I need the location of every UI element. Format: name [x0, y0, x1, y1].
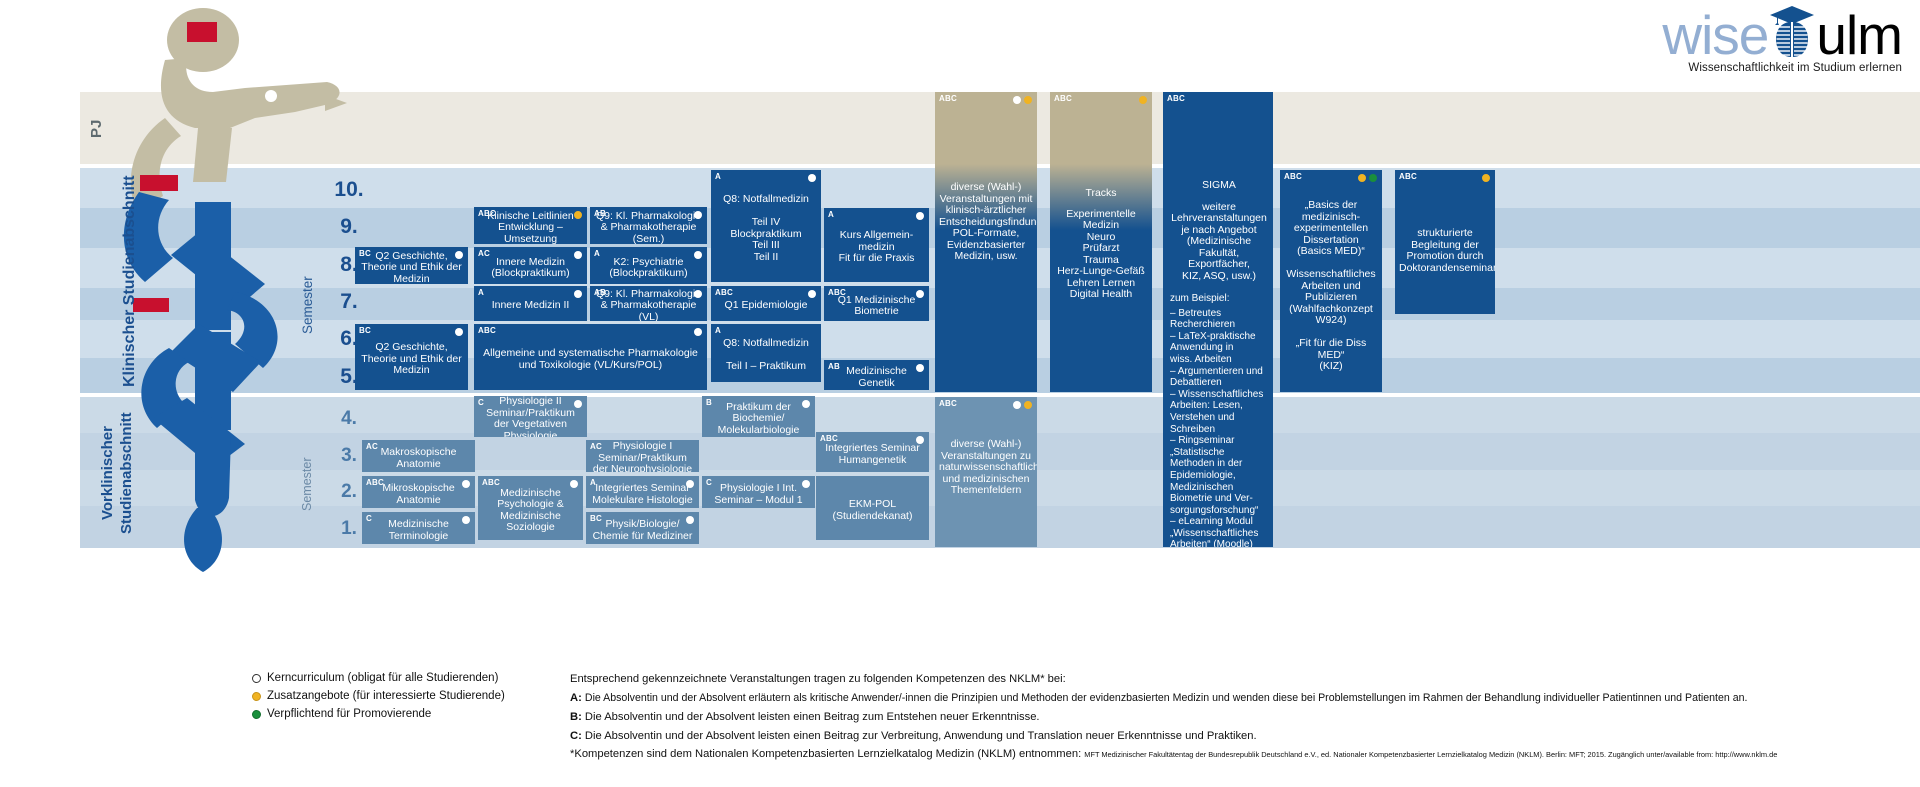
legend-label: Verpflichtend für Promovierende	[267, 708, 431, 720]
status-dot-white	[1013, 96, 1021, 104]
box-tag: C	[706, 478, 712, 487]
course-box-q2-geschichte-sem8[interactable]: BC Q2 Geschichte, Theorie und Ethik der …	[355, 247, 468, 284]
column-doktorandenseminare[interactable]: ABC strukturierte Begleitung der Promoti…	[1395, 170, 1495, 314]
box-label: Q9: Kl. Pharmakologie & Pharmakotherapie…	[594, 289, 703, 321]
course-box-medizinische-psychologie[interactable]: ABC Medizinische Psychologie & Medizinis…	[478, 476, 583, 540]
course-box-q1-medizinische-biometrie[interactable]: ABC Q1 Medizinische Biometrie	[824, 286, 929, 321]
status-dot-orange	[1482, 174, 1490, 182]
legend-footnote-citation: MFT Medizinischer Fakultätentag der Bund…	[1084, 750, 1777, 759]
semester-number-4: 4.	[318, 408, 380, 430]
box-label: Makroskopische Anatomie	[366, 447, 471, 470]
box-label: Praktikum der Biochemie/ Molekularbiolog…	[706, 402, 811, 437]
box-tag: A	[715, 172, 721, 181]
status-dot-white	[574, 290, 582, 298]
box-label: Allgemeine und systematische Pharmakolog…	[478, 348, 703, 371]
course-box-q8-notfall-teil1[interactable]: A Q8: Notfallmedizin Teil I – Praktikum	[711, 324, 821, 382]
box-tag: ABC	[939, 94, 957, 103]
status-dot-green	[1369, 174, 1377, 182]
box-tag: AC	[478, 249, 490, 258]
status-dot-orange	[1139, 96, 1147, 104]
box-label: Medizinische Psychologie & Medizinische …	[482, 488, 579, 534]
box-label: Physiologie I Seminar/Praktikum der Neur…	[590, 441, 695, 472]
box-label: Q9: Kl. Pharmakologie & Pharmakotherapie…	[594, 211, 703, 244]
course-box-q9-seminar[interactable]: AB Q9: Kl. Pharmakologie & Pharmakothera…	[590, 207, 707, 244]
status-dot-white	[802, 400, 810, 408]
legend: Kerncurriculum (obligat für alle Studier…	[0, 672, 1920, 787]
box-label: Integriertes Seminar Molekulare Histolog…	[590, 483, 695, 506]
status-dot-white	[694, 251, 702, 259]
box-tag: C	[478, 398, 484, 407]
legend-footnote: *Kompetenzen sind dem Nationalen Kompete…	[570, 748, 1915, 760]
box-tag: AC	[366, 442, 378, 451]
legend-item-zusatzangebote: Zusatzangebote (für interessierte Studie…	[252, 690, 505, 702]
box-label: Q1 Epidemiologie	[715, 300, 817, 312]
legend-dot-white	[252, 674, 261, 683]
course-box-physiologie-2[interactable]: C Physiologie II Seminar/Praktikum der V…	[474, 396, 587, 437]
course-box-ekm-pol[interactable]: EKM-POL (Studiendekanat)	[816, 476, 929, 540]
column-label: „Basics der medizinisch- experimentellen…	[1284, 184, 1378, 373]
status-dot-white	[694, 328, 702, 336]
legend-text-b: Die Absolventin und der Absolvent leiste…	[585, 711, 1040, 723]
course-box-q1-epidemiologie[interactable]: ABC Q1 Epidemiologie	[711, 286, 821, 321]
course-box-makroskopische-anatomie[interactable]: AC Makroskopische Anatomie	[362, 440, 475, 472]
box-tag: B	[706, 398, 712, 407]
status-dot-orange	[574, 211, 582, 219]
box-label: Kurs Allgemein- medizin Fit für die Prax…	[828, 230, 925, 265]
box-label: Q8: Notfallmedizin Teil I – Praktikum	[715, 338, 817, 373]
status-dot-white	[462, 480, 470, 488]
box-tag: AB	[594, 288, 606, 297]
box-label: Q1 Medizinische Biometrie	[828, 295, 925, 318]
box-tag: ABC	[478, 326, 496, 335]
box-label: Innere Medizin II	[478, 300, 583, 312]
status-dot-white	[802, 480, 810, 488]
box-tag: ABC	[1399, 172, 1417, 181]
course-box-medizinische-genetik[interactable]: AB Medizinische Genetik	[824, 360, 929, 390]
box-label: Medizinische Terminologie	[366, 519, 471, 542]
legend-item-promovierende: Verpflichtend für Promovierende	[252, 708, 431, 720]
box-tag: A	[594, 249, 600, 258]
legend-intro: Entsprechend gekennzeichnete Veranstaltu…	[570, 672, 1066, 687]
tracks-item: Prüfarzt	[1054, 243, 1148, 255]
box-label: EKM-POL (Studiendekanat)	[820, 499, 925, 522]
box-label: K2: Psychiatrie (Blockpraktikum)	[594, 257, 703, 280]
course-box-physiologie-1-modul1[interactable]: C Physiologie I Int. Seminar – Modul 1	[702, 476, 815, 508]
column-heading: Tracks	[1054, 188, 1148, 200]
semester-number-9: 9.	[318, 215, 380, 239]
status-dot-white	[916, 212, 924, 220]
status-dot-white	[1013, 401, 1021, 409]
sigma-item: – Ringseminar „Statistische Methoden in …	[1170, 435, 1268, 516]
sigma-item: – eLearning Modul „Wissenschaftliches Ar…	[1170, 516, 1268, 547]
course-box-k2-psychiatrie[interactable]: A K2: Psychiatrie (Blockpraktikum)	[590, 247, 707, 284]
sigma-intro: weitere Lehrveranstaltungen je nach Ange…	[1170, 202, 1268, 283]
course-box-integriertes-seminar-humangenetik[interactable]: ABC Integriertes Seminar Humangenetik	[816, 432, 929, 472]
course-box-integriertes-seminar-histologie[interactable]: A Integriertes Seminar Molekulare Histol…	[586, 476, 699, 508]
axis-label-semester-clinical: Semester	[300, 225, 320, 385]
course-box-allgemeine-pharmakologie[interactable]: ABC Allgemeine und systematische Pharmak…	[474, 324, 707, 390]
column-label: diverse (Wahl-) Veranstaltungen mit klin…	[939, 106, 1033, 263]
status-dot-white	[916, 436, 924, 444]
box-tag: ABC	[1167, 94, 1185, 103]
course-box-innere-medizin-2[interactable]: A Innere Medizin II	[474, 286, 587, 321]
box-tag: BC	[359, 326, 371, 335]
semester-number-7: 7.	[318, 290, 380, 314]
box-label: Integriertes Seminar Humangenetik	[820, 443, 925, 466]
column-heading: SIGMA	[1170, 180, 1268, 192]
status-dot-white	[686, 480, 694, 488]
box-tag: A	[590, 478, 596, 487]
tracks-item: Experimentelle Medizin	[1054, 209, 1148, 232]
column-diverse-wahl-klinisch[interactable]: ABC diverse (Wahl-) Veranstaltungen mit …	[935, 92, 1037, 392]
course-box-praktikum-biochemie[interactable]: B Praktikum der Biochemie/ Molekularbiol…	[702, 396, 815, 437]
box-tag: A	[828, 210, 834, 219]
tracks-item: Digital Health	[1054, 289, 1148, 301]
legend-competency-b: B: Die Absolventin und der Absolvent lei…	[570, 710, 1910, 725]
legend-text-a: Die Absolventin und der Absolvent erläut…	[585, 692, 1748, 704]
box-tag: C	[366, 514, 372, 523]
curriculum-chart: PJ Klinischer Studienabschnitt Vorklinis…	[0, 0, 1920, 787]
box-label: Q2 Geschichte, Theorie und Ethik der Med…	[359, 342, 464, 377]
box-tag: ABC	[1054, 94, 1072, 103]
status-dot-orange	[1024, 96, 1032, 104]
legend-dot-green	[252, 710, 261, 719]
column-basics-med[interactable]: ABC „Basics der medizinisch- experimente…	[1280, 170, 1382, 392]
box-tag: BC	[359, 249, 371, 258]
sigma-item: – LaTeX-praktische Anwendung in wiss. Ar…	[1170, 331, 1268, 366]
box-label: Physiologie I Int. Seminar – Modul 1	[706, 483, 811, 506]
course-box-physik-biologie-chemie[interactable]: BC Physik/Biologie/ Chemie für Mediziner	[586, 512, 699, 544]
status-dot-white	[462, 516, 470, 524]
legend-item-kerncurriculum: Kerncurriculum (obligat für alle Studier…	[252, 672, 498, 684]
legend-dot-orange	[252, 692, 261, 701]
course-box-q2-geschichte-sem6[interactable]: BC Q2 Geschichte, Theorie und Ethik der …	[355, 324, 468, 390]
legend-competency-a: A: Die Absolventin und der Absolvent erl…	[570, 691, 1910, 706]
course-box-klinische-leitlinien[interactable]: ABC Klinische Leitlinien Entwicklung – U…	[474, 207, 587, 244]
section-label-preclinical: Vorklinischer Studienabschnitt	[98, 400, 138, 546]
box-tag: BC	[590, 514, 602, 523]
course-box-physiologie-1-neurophysiologie[interactable]: AC Physiologie I Seminar/Praktikum der N…	[586, 440, 699, 472]
status-dot-white	[694, 211, 702, 219]
box-tag: ABC	[478, 209, 496, 218]
status-dot-white	[808, 290, 816, 298]
status-dot-white	[808, 174, 816, 182]
status-dot-orange	[1358, 174, 1366, 182]
sigma-item: – Betreutes Recherchieren	[1170, 308, 1268, 331]
status-dot-orange	[1024, 401, 1032, 409]
box-label: Q2 Geschichte, Theorie und Ethik der Med…	[359, 251, 464, 284]
sigma-item: – Wissenschaftliches Arbeiten: Lesen, Ve…	[1170, 389, 1268, 435]
status-dot-white	[694, 290, 702, 298]
status-dot-white	[455, 251, 463, 259]
box-label: Physiologie II Seminar/Praktikum der Veg…	[478, 396, 583, 437]
sigma-item: – Argumentieren und Debattieren	[1170, 366, 1268, 389]
box-label: Innere Medizin (Blockpraktikum)	[478, 257, 583, 280]
legend-key-c: C:	[570, 730, 582, 742]
box-tag: ABC	[939, 399, 957, 408]
box-tag: AB	[594, 209, 606, 218]
status-dot-white	[570, 480, 578, 488]
axis-label-semester-preclinical: Semester	[300, 432, 320, 537]
semester-number-10: 10.	[318, 178, 380, 202]
legend-label: Zusatzangebote (für interessierte Studie…	[267, 690, 505, 702]
column-label: strukturierte Begleitung der Promotion d…	[1399, 184, 1491, 274]
status-dot-white	[686, 516, 694, 524]
legend-competency-c: C: Die Absolventin und der Absolvent lei…	[570, 729, 1910, 744]
course-box-q9-vl[interactable]: AB Q9: Kl. Pharmakologie & Pharmakothera…	[590, 286, 707, 321]
legend-text-c: Die Absolventin und der Absolvent leiste…	[585, 730, 1257, 742]
section-label-pj: PJ	[88, 100, 112, 158]
box-tag: ABC	[482, 478, 500, 487]
status-dot-white	[916, 290, 924, 298]
box-tag: ABC	[820, 434, 838, 443]
tracks-item: Herz-Lunge-Gefäß	[1054, 266, 1148, 278]
section-label-clinical: Klinischer Studienabschnitt	[120, 170, 160, 392]
column-sigma[interactable]: ABC SIGMA weitere Lehrveranstaltungen je…	[1163, 92, 1273, 547]
box-label: Q8: Notfallmedizin Teil IV Blockpraktiku…	[715, 194, 817, 263]
status-dot-white	[916, 364, 924, 372]
box-tag: ABC	[715, 288, 733, 297]
sigma-example-label: zum Beispiel:	[1170, 293, 1268, 305]
course-box-mikroskopische-anatomie[interactable]: ABC Mikroskopische Anatomie	[362, 476, 475, 508]
course-box-kurs-allgemeinmedizin[interactable]: A Kurs Allgemein- medizin Fit für die Pr…	[824, 208, 929, 282]
legend-footnote-main: *Kompetenzen sind dem Nationalen Kompete…	[570, 748, 1081, 760]
box-tag: A	[715, 326, 721, 335]
box-tag: AB	[828, 362, 840, 371]
course-box-medizinische-terminologie[interactable]: C Medizinische Terminologie	[362, 512, 475, 544]
box-tag: ABC	[366, 478, 384, 487]
box-tag: ABC	[1284, 172, 1302, 181]
legend-label: Kerncurriculum (obligat für alle Studier…	[267, 672, 498, 684]
status-dot-white	[574, 251, 582, 259]
box-label: Physik/Biologie/ Chemie für Mediziner	[590, 519, 695, 542]
box-tag: A	[478, 288, 484, 297]
box-tag: AC	[590, 442, 602, 451]
status-dot-white	[574, 400, 582, 408]
column-label: diverse (Wahl-) Veranstaltungen zu natur…	[939, 411, 1033, 497]
course-box-q8-notfallmedizin[interactable]: A Q8: Notfallmedizin Teil IV Blockprakti…	[711, 170, 821, 282]
legend-key-b: B:	[570, 711, 582, 723]
column-diverse-wahl-vorklinisch[interactable]: ABC diverse (Wahl-) Veranstaltungen zu n…	[935, 397, 1037, 547]
legend-key-a: A:	[570, 692, 582, 704]
status-dot-white	[455, 328, 463, 336]
course-box-innere-medizin-blockpraktikum[interactable]: AC Innere Medizin (Blockpraktikum)	[474, 247, 587, 284]
column-tracks[interactable]: ABC Tracks Experimentelle Medizin Neuro …	[1050, 92, 1152, 392]
box-label: Medizinische Genetik	[828, 366, 925, 389]
box-tag: ABC	[828, 288, 846, 297]
